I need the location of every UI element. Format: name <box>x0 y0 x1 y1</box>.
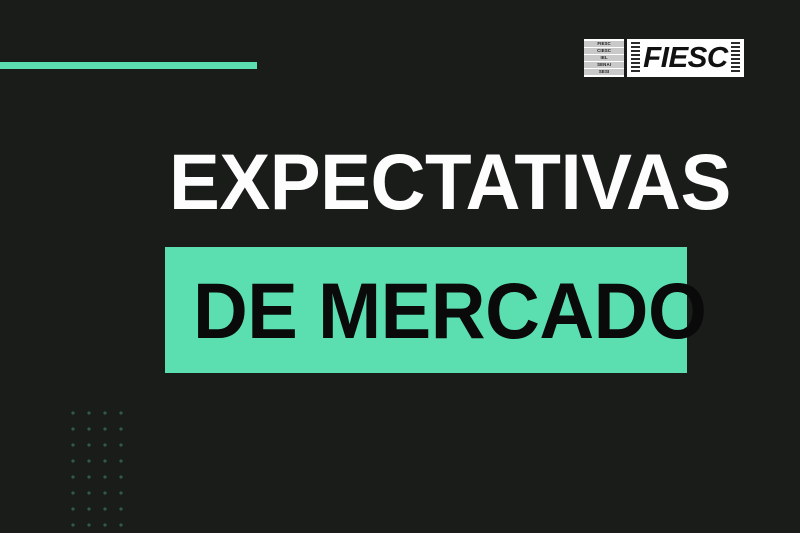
logo-system-line-sesi: SESI <box>584 69 624 75</box>
logo-stripes-right-icon <box>731 42 740 74</box>
fiesc-wordmark-box: FIESC <box>627 39 744 77</box>
title-slide: FIESC CIESC IEL SENAI SESI FIESC EXPECTA… <box>0 0 800 533</box>
logo-system-line-fiesc: FIESC <box>584 41 624 48</box>
logo-system-line-iel: IEL <box>584 55 624 62</box>
fiesc-wordmark-text: FIESC <box>639 44 732 73</box>
dot-grid-decoration <box>65 405 135 533</box>
page-title: EXPECTATIVAS <box>169 142 731 221</box>
logo-system-line-senai: SENAI <box>584 62 624 69</box>
logo-system-line-ciesc: CIESC <box>584 48 624 55</box>
page-subtitle: DE MERCADO <box>193 271 706 350</box>
fiesc-logo: FIESC CIESC IEL SENAI SESI FIESC <box>584 39 744 77</box>
fiesc-system-box: FIESC CIESC IEL SENAI SESI <box>584 39 624 77</box>
subtitle-highlight-block: DE MERCADO <box>165 247 687 373</box>
accent-rule <box>0 62 257 69</box>
